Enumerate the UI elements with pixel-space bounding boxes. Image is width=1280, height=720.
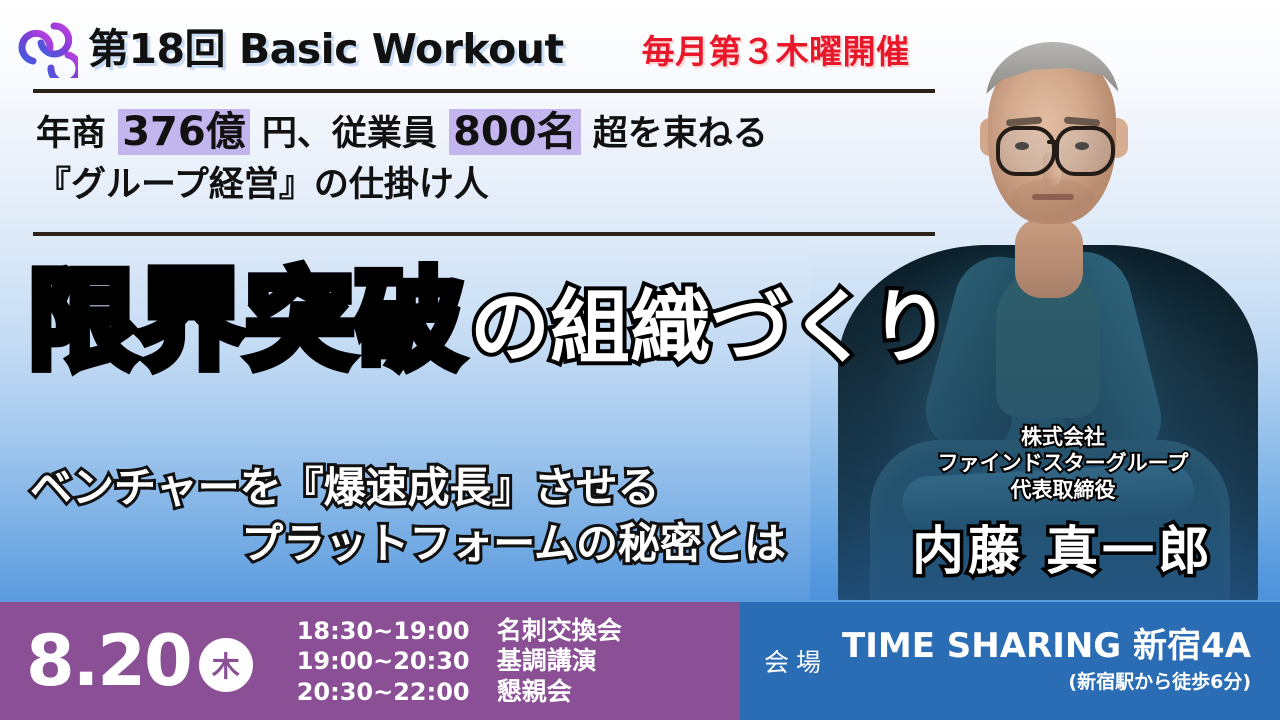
speaker-org-line-2: ファインドスターグループ [898,450,1228,476]
schedule-row: 18:30~19:00 名刺交換会 [297,616,622,646]
venue-texts: TIME SHARING 新宿4A (新宿駅から徒歩6分) [842,628,1251,694]
speaker-name: 内藤 真一郎 [898,509,1228,584]
subhead-line-1: 年商 376億 円、従業員 800名 超を束ねる [36,104,936,161]
venue-panel: 会場 TIME SHARING 新宿4A (新宿駅から徒歩6分) [740,602,1280,720]
header-title-row: 第18回 Basic Workout 毎月第３木曜開催 [88,15,910,75]
divider-bottom [33,232,935,236]
schedule-time: 19:00~20:30 [297,647,497,675]
event-date: 8.20 [26,626,191,696]
subhead-line-2: 『グループ経営』の仕掛け人 [36,161,936,211]
tagline-line-2: プラットフォームの秘密とは [30,516,820,572]
schedule-row: 20:30~22:00 懇親会 [297,677,622,707]
event-title: 第18回 Basic Workout [88,15,564,75]
subhead-prefix: 年商 [36,114,118,154]
speaker-org-line-1: 株式会社 [898,424,1228,450]
venue-name: TIME SHARING 新宿4A [842,628,1251,665]
trefoil-circles-logo-icon [16,16,78,78]
speaker-org-line-3: 代表取締役 [898,477,1228,503]
schedule-time: 18:30~19:00 [297,617,497,645]
headline-rest-text: の組織づくり [470,284,950,376]
subhead-highlight-employees: 800名 [449,109,581,155]
subhead-block: 年商 376億 円、従業員 800名 超を束ねる 『グループ経営』の仕掛け人 [36,104,936,210]
subhead-middle: 円、従業員 [250,114,449,154]
recurrence-badge: 毎月第３木曜開催 [642,25,910,73]
schedule-time: 20:30~22:00 [297,678,497,706]
divider-top [33,89,935,93]
subhead-highlight-revenue: 376億 [118,109,250,155]
day-of-week-badge: 木 [199,638,253,692]
date-panel: 8.20 木 18:30~19:00 名刺交換会 19:00~20:30 基調講… [0,602,740,720]
headline-accent-text: 限界突破 [28,268,464,376]
schedule-label: 名刺交換会 [497,616,622,646]
tagline-line-1: ベンチャーを『爆速成長』させる [30,460,820,516]
footer-bar: 8.20 木 18:30~19:00 名刺交換会 19:00~20:30 基調講… [0,602,1280,720]
main-headline: 限界突破 の組織づくり [28,268,950,376]
speaker-info: 株式会社 ファインドスターグループ 代表取締役 内藤 真一郎 [898,424,1228,584]
venue-label: 会場 [764,643,828,679]
venue-access-note: (新宿駅から徒歩6分) [842,667,1251,694]
schedule-list: 18:30~19:00 名刺交換会 19:00~20:30 基調講演 20:30… [297,616,622,707]
schedule-label: 基調講演 [497,646,597,676]
schedule-row: 19:00~20:30 基調講演 [297,646,622,676]
subhead-suffix: 超を束ねる [581,114,768,154]
event-poster: 第18回 Basic Workout 毎月第３木曜開催 年商 376億 円、従業… [0,0,1280,720]
schedule-label: 懇親会 [497,677,572,707]
tagline-block: ベンチャーを『爆速成長』させる プラットフォームの秘密とは [30,460,820,573]
